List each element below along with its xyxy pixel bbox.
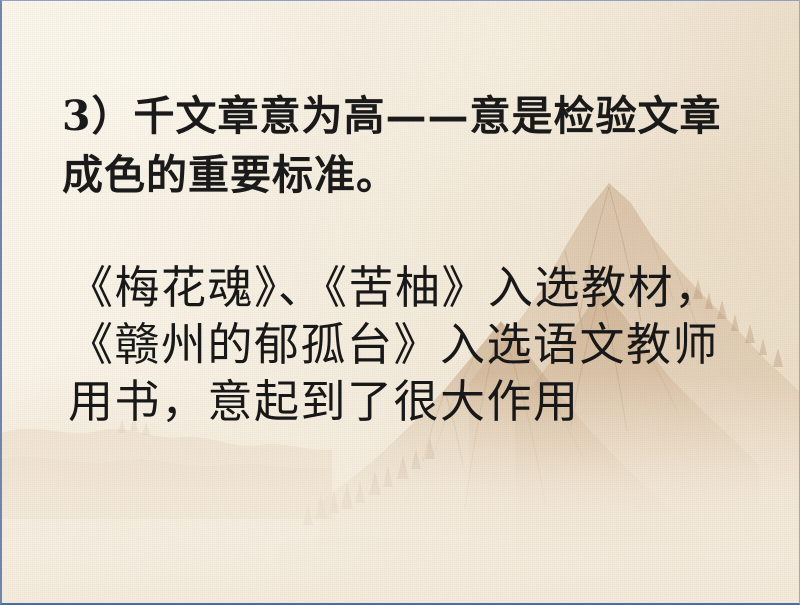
slide-heading: 3）千文章意为高——意是检验文章成色的重要标准。 — [62, 87, 762, 205]
slide-text-layer: 3）千文章意为高——意是检验文章成色的重要标准。 《梅花魂》、《苦柚》入选教材，… — [2, 1, 799, 603]
slide-body-text: 《梅花魂》、《苦柚》入选教材，《赣州的郁孤台》入选语文教师用书，意起到了很大作用 — [68, 259, 728, 430]
presentation-slide: 3）千文章意为高——意是检验文章成色的重要标准。 《梅花魂》、《苦柚》入选教材，… — [0, 0, 800, 605]
